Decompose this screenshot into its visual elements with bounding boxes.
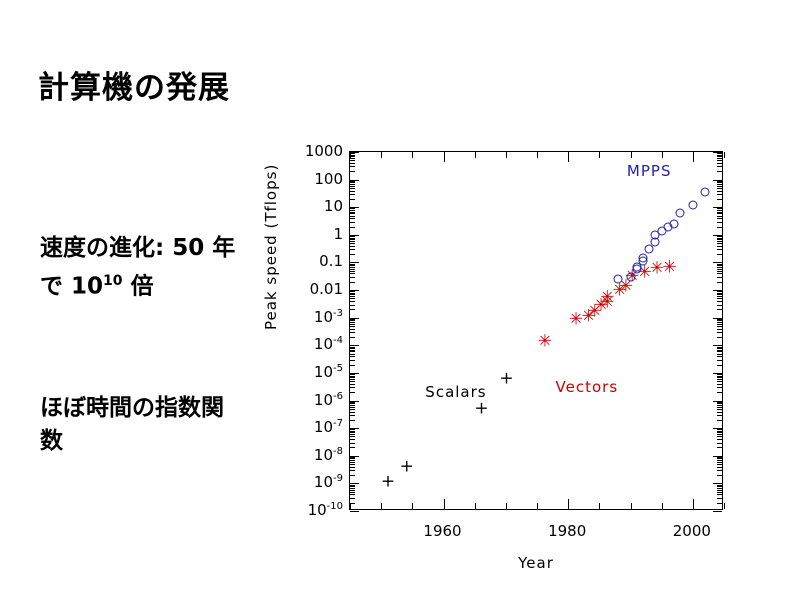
y-tick-minor <box>717 293 722 294</box>
x-tick-major <box>568 152 569 162</box>
bullet-exponential-function: ほぼ時間の指数関 数 <box>40 392 285 458</box>
x-tick-major <box>693 152 694 162</box>
y-tick-minor <box>350 238 355 239</box>
y-tick-minor <box>717 324 722 325</box>
y-tick-minor <box>350 208 355 209</box>
y-tick-minor <box>350 387 355 388</box>
data-point-vector: ✳ <box>650 263 661 274</box>
y-tick-minor <box>350 407 355 408</box>
y-tick-minor <box>717 415 722 416</box>
y-tick-minor <box>350 181 355 182</box>
y-tick-minor <box>717 322 722 323</box>
x-tick-label: 2000 <box>673 522 711 540</box>
x-tick-minor <box>631 152 632 158</box>
y-tick-minor <box>350 439 355 440</box>
y-tick-minor <box>717 485 722 486</box>
y-tick-minor <box>717 458 722 459</box>
y-tick-minor <box>350 384 355 385</box>
y-tick-minor <box>350 488 355 489</box>
y-tick-label: 100 <box>314 170 343 188</box>
y-tick-minor <box>350 239 355 240</box>
y-tick-minor <box>717 332 722 333</box>
data-point-vector: ✳ <box>662 262 673 273</box>
y-tick-minor <box>717 470 722 471</box>
y-tick-minor <box>717 246 722 247</box>
y-tick-minor <box>717 329 722 330</box>
y-tick-minor <box>717 298 722 299</box>
y-tick-label: 10-10 <box>308 501 343 519</box>
y-tick-minor <box>717 171 722 172</box>
y-tick-minor <box>350 402 355 403</box>
y-tick-minor <box>717 467 722 468</box>
y-tick-minor <box>717 212 722 213</box>
y-tick-minor <box>350 381 355 382</box>
y-tick-minor <box>717 264 722 265</box>
y-tick-minor <box>717 409 722 410</box>
y-tick-minor <box>350 277 355 278</box>
y-tick-minor <box>350 282 355 283</box>
y-tick-minor <box>350 271 355 272</box>
y-tick-minor <box>717 365 722 366</box>
data-point-scalar: + <box>400 460 413 473</box>
data-point-vector: ✳ <box>569 315 580 326</box>
y-tick-minor <box>350 182 355 183</box>
y-tick-minor <box>717 402 722 403</box>
data-point-mpps <box>670 219 679 228</box>
y-tick-minor <box>717 494 722 495</box>
y-tick-minor <box>350 409 355 410</box>
y-tick-minor <box>717 376 722 377</box>
y-tick-minor <box>350 365 355 366</box>
y-tick-minor <box>717 249 722 250</box>
y-tick-minor <box>717 182 722 183</box>
x-tick-minor <box>599 152 600 158</box>
y-tick-minor <box>717 269 722 270</box>
y-tick-minor <box>350 254 355 255</box>
bullet-2-line-2: 数 <box>40 428 63 454</box>
y-axis-title: Peak speed (Tflops) <box>262 164 280 330</box>
data-point-mpps <box>645 245 654 254</box>
y-tick-label: 1 <box>333 225 343 243</box>
y-tick-minor <box>350 429 355 430</box>
y-tick-minor <box>717 503 722 504</box>
y-tick-minor <box>717 354 722 355</box>
y-tick-minor <box>350 494 355 495</box>
y-tick-label: 10 <box>324 197 343 215</box>
x-tick-label: 1960 <box>423 522 461 540</box>
data-point-vector: ✳ <box>600 293 611 304</box>
data-point-scalar: + <box>381 476 394 489</box>
y-tick-minor <box>717 186 722 187</box>
x-tick-minor <box>381 152 382 158</box>
y-tick-minor <box>350 458 355 459</box>
annotation-mpps: MPPS <box>627 162 672 180</box>
y-tick-minor <box>717 194 722 195</box>
y-tick-minor <box>717 377 722 378</box>
x-tick-minor <box>662 503 663 509</box>
y-tick-minor <box>717 273 722 274</box>
y-tick-minor <box>350 347 355 348</box>
y-tick-minor <box>350 420 355 421</box>
y-tick-minor <box>717 457 722 458</box>
y-tick-minor <box>717 351 722 352</box>
y-tick-minor <box>717 319 722 320</box>
annotation-vectors: Vectors <box>556 378 619 396</box>
y-tick-minor <box>717 191 722 192</box>
y-tick-minor <box>350 351 355 352</box>
y-tick-minor <box>350 374 355 375</box>
y-tick-minor <box>350 329 355 330</box>
y-tick-minor <box>350 210 355 211</box>
y-tick-minor <box>350 319 355 320</box>
y-tick-minor <box>350 293 355 294</box>
y-tick-minor <box>350 415 355 416</box>
y-tick-minor <box>350 218 355 219</box>
y-tick-minor <box>350 309 355 310</box>
y-tick-minor <box>717 188 722 189</box>
y-tick-label: 10-6 <box>314 391 343 409</box>
y-tick-minor <box>350 443 355 444</box>
y-tick-minor <box>717 218 722 219</box>
y-tick-minor <box>717 301 722 302</box>
y-tick-minor <box>717 356 722 357</box>
y-tick-minor <box>350 324 355 325</box>
y-tick-minor <box>717 403 722 404</box>
y-tick-minor <box>717 434 722 435</box>
y-tick-minor <box>717 241 722 242</box>
data-point-mpps <box>614 274 623 283</box>
bullet-speed-evolution: 速度の進化: 50 年 で 1010 倍 <box>40 232 285 304</box>
y-tick-label: 10-5 <box>314 363 343 381</box>
y-tick-minor <box>717 320 722 321</box>
y-tick-minor <box>717 254 722 255</box>
x-tick-minor <box>350 152 351 158</box>
y-tick-minor <box>717 271 722 272</box>
x-tick-major <box>444 152 445 162</box>
y-tick-minor <box>350 405 355 406</box>
y-tick-minor <box>350 294 355 295</box>
y-tick-minor <box>350 475 355 476</box>
y-tick-minor <box>717 447 722 448</box>
bullet-1-exponent: 10 <box>103 273 122 289</box>
y-tick-minor <box>717 443 722 444</box>
y-tick-minor <box>717 277 722 278</box>
y-tick-label: 10-9 <box>314 473 343 491</box>
y-tick-minor <box>717 208 722 209</box>
y-tick-minor <box>350 460 355 461</box>
data-point-scalar: + <box>474 402 487 415</box>
x-tick-major <box>444 499 445 509</box>
y-tick-label: 10-8 <box>314 446 343 464</box>
y-tick-minor <box>350 436 355 437</box>
bullet-1-line-2-pre: で 10 <box>40 274 103 300</box>
bullet-1-line-2-post: 倍 <box>123 274 154 300</box>
y-tick-label: 10-7 <box>314 418 343 436</box>
data-point-mpps <box>688 201 697 210</box>
y-tick-minor <box>350 166 355 167</box>
y-tick-minor <box>350 376 355 377</box>
y-tick-minor <box>717 199 722 200</box>
y-tick-minor <box>350 356 355 357</box>
y-tick-minor <box>350 243 355 244</box>
y-tick-minor <box>350 163 355 164</box>
y-tick-minor <box>717 236 722 237</box>
y-tick-minor <box>350 412 355 413</box>
y-tick-minor <box>350 249 355 250</box>
y-tick-minor <box>717 347 722 348</box>
y-tick-minor <box>717 184 722 185</box>
y-tick-minor <box>717 282 722 283</box>
x-tick-label: 1980 <box>548 522 586 540</box>
y-tick-minor <box>350 485 355 486</box>
y-tick-minor <box>350 188 355 189</box>
y-tick-minor <box>717 294 722 295</box>
y-tick-minor <box>717 407 722 408</box>
y-tick-minor <box>717 210 722 211</box>
bullet-1-line-1: 速度の進化: 50 年 <box>40 235 235 261</box>
y-tick-minor <box>350 199 355 200</box>
y-tick-minor <box>717 155 722 156</box>
y-tick-minor <box>350 301 355 302</box>
y-tick-minor <box>717 243 722 244</box>
y-tick-minor <box>717 360 722 361</box>
y-tick-minor <box>717 374 722 375</box>
y-tick-minor <box>350 462 355 463</box>
y-tick-minor <box>717 326 722 327</box>
y-tick-minor <box>350 379 355 380</box>
y-tick-minor <box>350 392 355 393</box>
x-tick-minor <box>537 503 538 509</box>
y-tick-minor <box>717 239 722 240</box>
y-tick-minor <box>717 213 722 214</box>
y-tick-minor <box>717 350 722 351</box>
y-tick-label: 10-4 <box>314 335 343 353</box>
x-axis-title: Year <box>518 554 554 572</box>
y-tick-minor <box>350 486 355 487</box>
y-tick-minor <box>350 171 355 172</box>
x-tick-minor <box>724 152 725 158</box>
y-tick-minor <box>717 379 722 380</box>
y-tick-minor <box>350 354 355 355</box>
y-tick-minor <box>717 348 722 349</box>
y-tick-minor <box>350 160 355 161</box>
y-tick-minor <box>350 337 355 338</box>
y-tick-minor <box>350 348 355 349</box>
y-tick-minor <box>350 432 355 433</box>
y-tick-minor <box>350 320 355 321</box>
y-tick-minor <box>717 222 722 223</box>
y-tick-minor <box>717 431 722 432</box>
data-point-mpps <box>638 253 647 262</box>
y-tick-minor <box>717 475 722 476</box>
y-tick-minor <box>350 464 355 465</box>
y-tick-major <box>713 511 722 512</box>
y-tick-minor <box>350 332 355 333</box>
y-tick-label: 0.01 <box>310 280 343 298</box>
y-tick-minor <box>350 296 355 297</box>
y-tick-minor <box>350 447 355 448</box>
y-tick-minor <box>350 403 355 404</box>
y-tick-minor <box>350 434 355 435</box>
slide-canvas: 計算機の発展 速度の進化: 50 年 で 1010 倍 ほぼ時間の指数関 数 P… <box>0 0 800 600</box>
x-tick-minor <box>381 503 382 509</box>
y-tick-minor <box>717 181 722 182</box>
y-tick-minor <box>350 326 355 327</box>
y-tick-minor <box>350 470 355 471</box>
y-tick-minor <box>717 265 722 266</box>
y-tick-minor <box>717 163 722 164</box>
y-tick-minor <box>717 291 722 292</box>
x-tick-minor <box>475 503 476 509</box>
y-tick-minor <box>717 160 722 161</box>
y-tick-minor <box>350 241 355 242</box>
x-tick-minor <box>412 152 413 158</box>
y-tick-minor <box>350 236 355 237</box>
data-point-mpps <box>676 209 685 218</box>
y-tick-minor <box>717 305 722 306</box>
y-tick-minor <box>717 166 722 167</box>
y-tick-minor <box>717 156 722 157</box>
data-point-scalar: + <box>499 373 512 386</box>
x-tick-major <box>693 499 694 509</box>
y-tick-minor <box>350 457 355 458</box>
x-tick-minor <box>350 503 351 509</box>
y-tick-minor <box>350 264 355 265</box>
y-tick-minor <box>717 488 722 489</box>
y-tick-minor <box>717 412 722 413</box>
y-tick-minor <box>717 227 722 228</box>
y-tick-minor <box>717 492 722 493</box>
y-tick-minor <box>350 305 355 306</box>
x-tick-minor <box>537 152 538 158</box>
y-tick-minor <box>717 238 722 239</box>
y-tick-label: 10-3 <box>314 308 343 326</box>
bullet-2-line-1: ほぼ時間の指数関 <box>40 395 224 421</box>
y-tick-minor <box>717 439 722 440</box>
x-tick-minor <box>506 503 507 509</box>
y-tick-minor <box>350 246 355 247</box>
x-tick-minor <box>412 503 413 509</box>
plot-area: ++++✳✳✳✳✳✳✳✳✳✳✳✳✳ MPPSVectorsScalars <box>349 151 723 510</box>
y-tick-minor <box>717 436 722 437</box>
y-tick-minor <box>350 498 355 499</box>
y-tick-minor <box>717 384 722 385</box>
y-tick-minor <box>717 464 722 465</box>
y-tick-minor <box>717 498 722 499</box>
y-tick-minor <box>350 350 355 351</box>
y-tick-minor <box>717 405 722 406</box>
y-tick-minor <box>717 490 722 491</box>
y-tick-minor <box>350 191 355 192</box>
y-tick-major <box>350 511 359 512</box>
y-tick-minor <box>717 296 722 297</box>
annotation-scalars: Scalars <box>425 383 486 401</box>
y-tick-minor <box>350 213 355 214</box>
y-tick-minor <box>717 387 722 388</box>
y-tick-minor <box>717 309 722 310</box>
x-tick-minor <box>599 503 600 509</box>
y-tick-minor <box>350 490 355 491</box>
x-tick-minor <box>662 152 663 158</box>
y-tick-minor <box>350 377 355 378</box>
y-tick-minor <box>350 227 355 228</box>
data-point-mpps <box>626 272 635 281</box>
y-tick-minor <box>350 184 355 185</box>
y-tick-minor <box>717 420 722 421</box>
y-tick-minor <box>350 186 355 187</box>
y-tick-minor <box>350 265 355 266</box>
y-tick-minor <box>350 267 355 268</box>
y-tick-minor <box>717 158 722 159</box>
y-tick-minor <box>350 467 355 468</box>
y-tick-minor <box>350 269 355 270</box>
y-tick-minor <box>717 153 722 154</box>
y-tick-minor <box>350 212 355 213</box>
y-tick-minor <box>717 486 722 487</box>
peak-speed-chart: Peak speed (Tflops) Year 10001001010.10.… <box>270 130 790 580</box>
y-tick-minor <box>350 158 355 159</box>
x-tick-minor <box>506 152 507 158</box>
y-tick-minor <box>717 392 722 393</box>
page-title: 計算機の発展 <box>38 62 230 107</box>
y-tick-minor <box>350 431 355 432</box>
y-tick-minor <box>350 322 355 323</box>
y-tick-minor <box>717 267 722 268</box>
y-tick-minor <box>350 360 355 361</box>
x-tick-major <box>568 499 569 509</box>
y-tick-minor <box>350 291 355 292</box>
y-tick-minor <box>350 298 355 299</box>
y-tick-minor <box>717 460 722 461</box>
y-tick-minor <box>350 273 355 274</box>
y-tick-minor <box>717 381 722 382</box>
y-tick-minor <box>717 429 722 430</box>
y-tick-minor <box>717 462 722 463</box>
y-tick-minor <box>717 337 722 338</box>
x-tick-minor <box>631 503 632 509</box>
x-tick-minor <box>475 152 476 158</box>
y-tick-minor <box>350 216 355 217</box>
y-tick-minor <box>350 222 355 223</box>
x-tick-minor <box>724 503 725 509</box>
data-point-vector: ✳ <box>538 337 549 348</box>
y-tick-label: 1000 <box>305 142 343 160</box>
y-tick-minor <box>350 194 355 195</box>
y-tick-minor <box>350 492 355 493</box>
y-tick-minor <box>717 432 722 433</box>
y-tick-minor <box>717 216 722 217</box>
y-tick-label: 0.1 <box>319 252 343 270</box>
data-point-mpps <box>701 188 710 197</box>
